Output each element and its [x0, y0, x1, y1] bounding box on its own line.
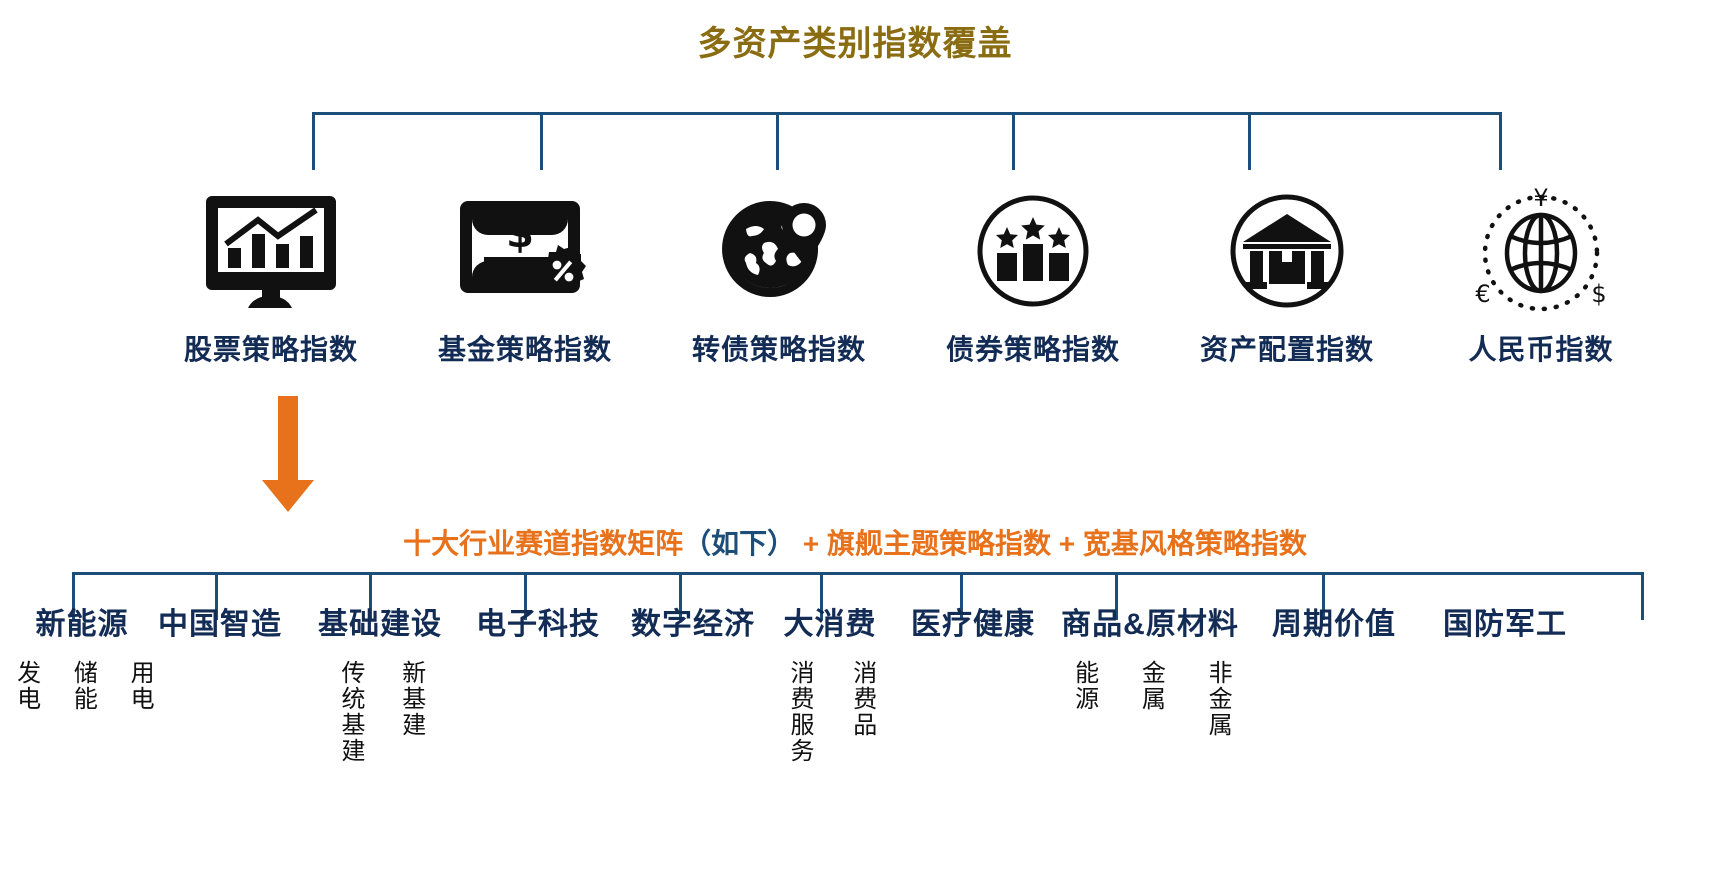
- sector-item-china-manufacturing[interactable]: 中国智造: [140, 604, 300, 646]
- asset-class-item-rmb[interactable]: ¥ € $ 人民币指数: [1446, 186, 1636, 368]
- asset-class-label: 股票策略指数: [184, 328, 358, 368]
- headline-part2: + 旗舰主题策略指数 + 宽基风格策略指数: [795, 528, 1307, 559]
- svg-text:€: €: [1475, 280, 1490, 308]
- top-bracket-horizontal-line: [312, 112, 1502, 115]
- sector-sub-item: 金属: [1135, 660, 1166, 738]
- asset-class-label: 转债策略指数: [692, 328, 866, 368]
- sector-sub-item: 用电: [123, 660, 154, 712]
- arrow-head: [262, 480, 314, 512]
- globe-currency-icon: ¥ € $: [1474, 186, 1608, 316]
- sector-item-consumption[interactable]: 大消费 消费服务 消费品: [760, 604, 900, 764]
- orange-down-arrow-icon: [262, 396, 314, 512]
- page-title: 多资产类别指数覆盖: [0, 16, 1710, 65]
- asset-class-item-bond[interactable]: 债券策略指数: [938, 186, 1128, 368]
- sector-sub-item: 消费品: [846, 660, 877, 764]
- svg-text:$: $: [1591, 280, 1606, 308]
- sector-sub-row: 发电 储能 用电: [10, 660, 154, 712]
- top-bracket-tick-2: [540, 112, 543, 170]
- top-bracket: [312, 112, 1502, 170]
- asset-class-item-allocation[interactable]: 资产配置指数: [1192, 186, 1382, 368]
- svg-text:¥: ¥: [1533, 184, 1548, 212]
- asset-class-item-fund[interactable]: $ 基金策略指数: [430, 186, 620, 368]
- banknote-percent-icon: $: [460, 186, 590, 316]
- sector-name: 基础建设: [318, 604, 442, 646]
- top-bracket-tick-1: [312, 112, 315, 170]
- asset-class-label: 债券策略指数: [946, 328, 1120, 368]
- circle-bank-icon: [1228, 186, 1346, 316]
- asset-class-label: 人民币指数: [1468, 328, 1613, 368]
- sector-row: 新能源 发电 储能 用电 中国智造 基础建设 传统基建 新基建 电子科技 数字经…: [0, 604, 1710, 874]
- asset-class-item-convertible[interactable]: 转债策略指数: [684, 186, 874, 368]
- arrow-stem: [278, 396, 298, 484]
- sector-sub-item: 能源: [1068, 660, 1099, 738]
- sector-sub-row: 传统基建 新基建: [334, 660, 425, 764]
- top-bracket-tick-5: [1248, 112, 1251, 170]
- sector-sub-item: 消费服务: [783, 660, 814, 764]
- svg-text:$: $: [506, 211, 534, 257]
- sector-item-defense[interactable]: 国防军工: [1420, 604, 1590, 646]
- sector-sub-row: 消费服务 消费品: [783, 660, 876, 764]
- sector-name: 周期价值: [1272, 604, 1396, 646]
- sector-item-cyclical-value[interactable]: 周期价值: [1254, 604, 1414, 646]
- sector-name: 新能源: [36, 604, 129, 646]
- sector-item-healthcare[interactable]: 医疗健康: [893, 604, 1053, 646]
- sector-matrix-headline: 十大行业赛道指数矩阵（如下） + 旗舰主题策略指数 + 宽基风格策略指数: [0, 522, 1710, 562]
- monitor-chart-icon: [206, 186, 336, 316]
- sector-sub-item: 传统基建: [334, 660, 365, 764]
- asset-class-row: 股票策略指数 $: [176, 186, 1636, 386]
- asset-class-label: 资产配置指数: [1200, 328, 1374, 368]
- sector-item-new-energy[interactable]: 新能源 发电 储能 用电: [12, 604, 152, 712]
- top-bracket-tick-3: [776, 112, 779, 170]
- asset-class-item-equity[interactable]: 股票策略指数: [176, 186, 366, 368]
- globe-pin-icon: [720, 186, 838, 316]
- sector-item-electronics[interactable]: 电子科技: [458, 604, 618, 646]
- sector-name: 数字经济: [631, 604, 755, 646]
- asset-class-label: 基金策略指数: [438, 328, 612, 368]
- slide-canvas: 多资产类别指数覆盖 股: [0, 0, 1710, 879]
- sector-name: 商品&原材料: [1061, 604, 1239, 646]
- sector-sub-item: 储能: [67, 660, 98, 712]
- sector-sub-row: 能源 金属 非金属: [1068, 660, 1232, 738]
- sector-name: 国防军工: [1443, 604, 1567, 646]
- sector-name: 大消费: [784, 604, 877, 646]
- sector-item-commodities[interactable]: 商品&原材料 能源 金属 非金属: [1050, 604, 1250, 738]
- sector-name: 电子科技: [476, 604, 600, 646]
- sector-item-infrastructure[interactable]: 基础建设 传统基建 新基建: [300, 604, 460, 764]
- sector-name: 中国智造: [158, 604, 282, 646]
- bottom-bracket-horizontal-line: [72, 572, 1644, 575]
- top-bracket-tick-6: [1499, 112, 1502, 170]
- headline-paren: （如下）: [683, 528, 795, 559]
- sector-sub-item: 非金属: [1201, 660, 1232, 738]
- sector-name: 医疗健康: [911, 604, 1035, 646]
- circle-bars-stars-icon: [975, 186, 1091, 316]
- top-bracket-tick-4: [1012, 112, 1015, 170]
- sector-sub-item: 新基建: [395, 660, 426, 764]
- headline-part1: 十大行业赛道指数矩阵: [403, 528, 683, 559]
- sector-sub-item: 发电: [10, 660, 41, 712]
- sector-item-digital-economy[interactable]: 数字经济: [613, 604, 773, 646]
